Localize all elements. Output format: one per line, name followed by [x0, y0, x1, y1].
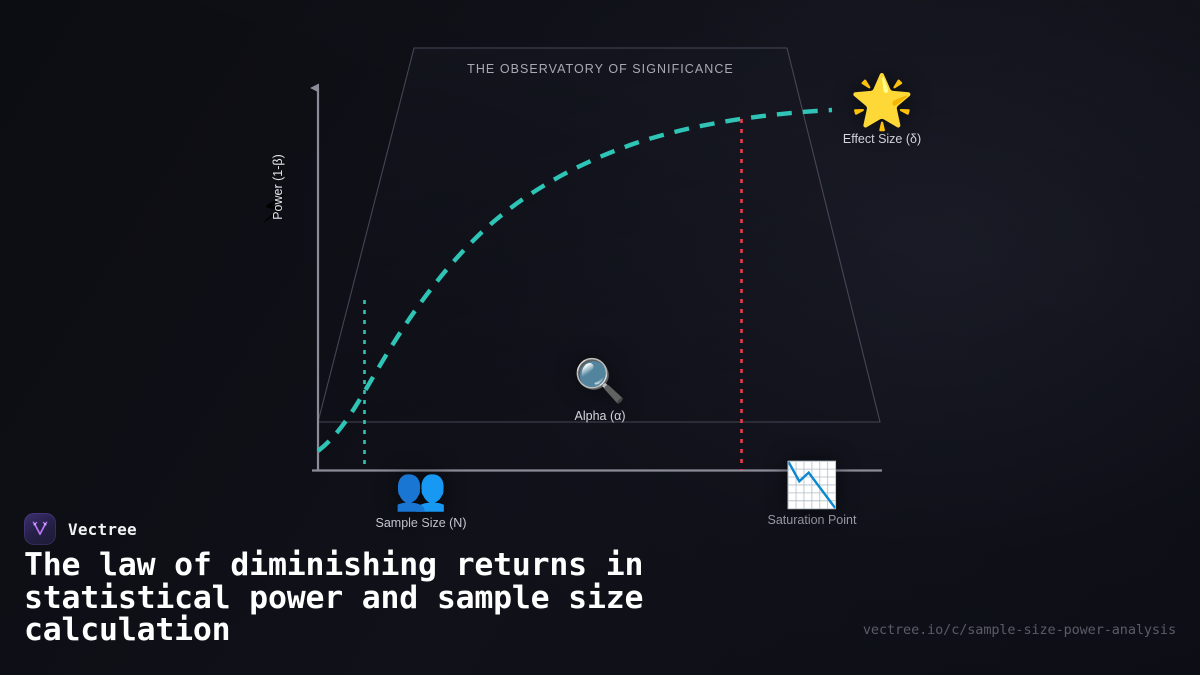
y-axis-label: Power (1-β): [271, 142, 285, 232]
node-alpha[interactable]: 🔍 Alpha (α): [540, 360, 660, 423]
headline: The law of diminishing returns in statis…: [24, 549, 784, 647]
brand-name: Vectree: [68, 520, 137, 539]
slide-canvas: THE OBSERVATORY OF SIGNIFICANCE ⚡ Power …: [0, 0, 1200, 675]
power-axis-group: ⚡ Power (1-β): [238, 172, 316, 262]
chart-title: THE OBSERVATORY OF SIGNIFICANCE: [414, 62, 787, 76]
two-people-icon: 👥: [395, 468, 447, 510]
node-alpha-label: Alpha (α): [575, 409, 626, 423]
node-saturation-point[interactable]: 📉 Saturation Point: [747, 464, 877, 527]
node-saturation-point-label: Saturation Point: [768, 513, 857, 527]
node-sample-size[interactable]: 👥 Sample Size (N): [356, 468, 486, 530]
node-effect-size[interactable]: 🌟 Effect Size (δ): [808, 76, 956, 146]
brand-lockup: Vectree: [24, 513, 137, 545]
magnifying-glass-icon: 🔍: [574, 360, 626, 402]
glowing-star-icon: 🌟: [850, 76, 915, 128]
vectree-v-logo: [24, 513, 56, 545]
node-effect-size-label: Effect Size (δ): [843, 132, 921, 146]
node-sample-size-label: Sample Size (N): [376, 516, 467, 530]
permalink: vectree.io/c/sample-size-power-analysis: [863, 622, 1176, 638]
chart-decreasing-icon: 📉: [785, 464, 840, 508]
